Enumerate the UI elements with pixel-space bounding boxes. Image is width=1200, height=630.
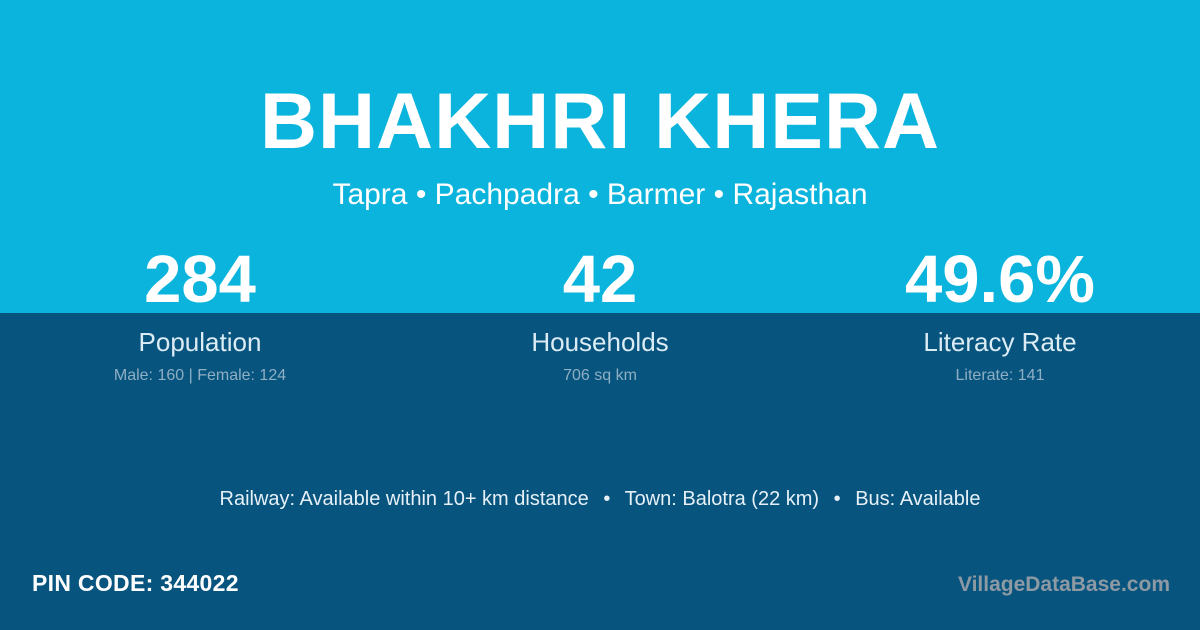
stats-row: 284 Population Male: 160 | Female: 124 4…	[0, 246, 1200, 384]
stat-population: 284 Population Male: 160 | Female: 124	[0, 246, 400, 384]
stat-literacy-rate: 49.6% Literacy Rate Literate: 141	[800, 246, 1200, 384]
stat-literacy-rate-value: 49.6%	[800, 246, 1200, 313]
infra-separator-2: •	[825, 487, 850, 511]
village-info-card: BHAKHRI KHERA Tapra • Pachpadra • Barmer…	[0, 0, 1200, 630]
site-brand: VillageDataBase.com	[958, 574, 1170, 595]
footer: PIN CODE: 344022 VillageDataBase.com	[0, 560, 1200, 630]
breadcrumb: Tapra • Pachpadra • Barmer • Rajasthan	[0, 160, 1200, 210]
stat-population-label: Population	[0, 329, 400, 355]
stat-households: 42 Households 706 sq km	[400, 246, 800, 384]
stat-households-value: 42	[400, 246, 800, 313]
stat-households-detail: 706 sq km	[400, 368, 800, 384]
infra-railway: Railway: Available within 10+ km distanc…	[220, 488, 589, 510]
page-title: BHAKHRI KHERA	[0, 0, 1200, 160]
header: BHAKHRI KHERA Tapra • Pachpadra • Barmer…	[0, 0, 1200, 210]
stat-literacy-rate-label: Literacy Rate	[800, 329, 1200, 355]
pin-code: PIN CODE: 344022	[32, 572, 239, 595]
stat-population-detail: Male: 160 | Female: 124	[0, 368, 400, 384]
infra-separator-1: •	[594, 487, 619, 511]
infrastructure-row: Railway: Available within 10+ km distanc…	[0, 487, 1200, 511]
infra-town: Town: Balotra (22 km)	[625, 488, 820, 510]
stat-literacy-rate-detail: Literate: 141	[800, 368, 1200, 384]
infra-bus: Bus: Available	[855, 488, 980, 510]
stat-population-value: 284	[0, 246, 400, 313]
stat-households-label: Households	[400, 329, 800, 355]
